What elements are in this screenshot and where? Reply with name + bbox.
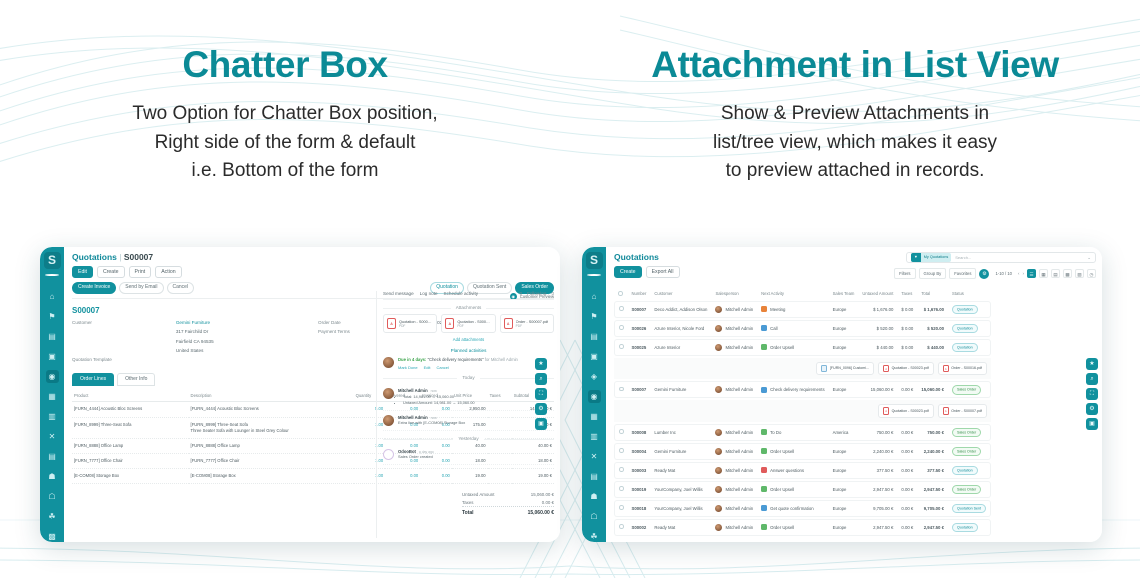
cell-number[interactable]: S00019 <box>628 481 651 498</box>
attachment-chip-list: [FURN_0096] Customi...AQuotation - S0002… <box>618 362 987 376</box>
app-sidebar-left[interactable]: S ⌂ ⚑ ▤ ▣ ◉ ▦ ▥ ✕ ▤ ☗ ☖ ☘ ▩ ✾ <box>40 247 64 542</box>
cell-total: $ 440.00 <box>917 339 948 356</box>
schedule-activity-button[interactable]: Schedule activity <box>444 291 478 296</box>
cell-number[interactable]: S00002 <box>628 519 651 536</box>
line-product: [FURN_8888] Office Lamp <box>72 438 189 453</box>
cell-taxes: $ 0.00 <box>897 301 917 318</box>
pdf-icon: A <box>445 318 454 329</box>
list-pane: Quotations Create Export All ▼ My Quotat… <box>606 247 1102 542</box>
activity-assignee: for Mitchell Admin <box>485 357 518 362</box>
settings-icon[interactable]: ⚙ <box>1086 403 1098 415</box>
avatar <box>715 386 722 393</box>
summary-untaxed: 36,775.50 <box>858 538 897 543</box>
screenshot-list-view: S ⌂ ⚑ ▤ ▣ ◈ ◉ ▦ ▥ ✕ ▤ ☗ ☖ ☘ ▩ ✾ Quotatio… <box>582 247 1102 542</box>
avatar <box>715 429 722 436</box>
following-button[interactable]: Following <box>527 291 546 296</box>
activity-label: Order Upsell <box>770 525 794 530</box>
message-author: Mitchell Admin <box>398 388 428 393</box>
status-badge: Sales Order <box>952 485 981 494</box>
edit-button[interactable]: Edit <box>72 266 93 278</box>
cell-total: 2,240.00 € <box>917 443 948 460</box>
table-row[interactable]: S00002Ready MatMitchell AdminOrder Upsel… <box>614 519 991 536</box>
select-all-checkbox[interactable] <box>618 291 623 296</box>
pdf-icon: A <box>883 365 889 373</box>
send-message-button[interactable]: Send message <box>383 291 414 296</box>
next-page-icon[interactable]: › <box>1023 271 1025 276</box>
attachment-name: Quotation - S00023.pdf <box>892 366 929 370</box>
group-by-button[interactable]: Group By <box>919 268 947 279</box>
line-product: [FURN_4444] Acoustic Bloc Screens <box>72 402 189 417</box>
quotations-list-body: S00007Deco Addict, Addison OlsonMitchell… <box>614 301 991 543</box>
followers-extra[interactable]: 0 <box>551 291 554 296</box>
attachment-list: A Quotation - S00023.pdf PDF A Quotation… <box>383 314 554 333</box>
table-row[interactable]: S00007Gemini FurnitureMitchell AdminChec… <box>614 381 991 398</box>
activity-type-icon <box>761 325 767 331</box>
cell-sales-team: America <box>829 424 859 441</box>
table-row[interactable]: S00018YourCompany, Joel WillisMitchell A… <box>614 500 991 517</box>
cell-status: Sales Order <box>948 481 991 498</box>
salesperson-name: Mitchell Admin <box>725 449 753 454</box>
activity-item: Due in 4 days: "Check delivery requireme… <box>383 357 554 370</box>
avatar <box>715 467 722 474</box>
breadcrumb-model[interactable]: Quotations <box>72 252 117 262</box>
table-row[interactable]: S00007Deco Addict, Addison OlsonMitchell… <box>614 301 991 318</box>
col-product[interactable]: Product <box>72 390 189 402</box>
home-icon[interactable]: ⌂ <box>46 290 59 303</box>
cell-number[interactable]: S00007 <box>628 301 651 318</box>
heading-subtitle-right: Show & Preview Attachments in list/tree … <box>570 100 1140 187</box>
contacts-icon[interactable]: ▣ <box>46 350 59 363</box>
cell-salesperson: Mitchell Admin <box>711 462 757 479</box>
app-sidebar-right[interactable]: S ⌂ ⚑ ▤ ▣ ◈ ◉ ▦ ▥ ✕ ▤ ☗ ☖ ☘ ▩ ✾ <box>582 247 606 542</box>
cell-status: Quotation <box>948 320 991 337</box>
cell-number[interactable]: S00007 <box>628 381 651 398</box>
cell-customer: Lumber Inc <box>650 424 711 441</box>
sales-icon[interactable]: ◉ <box>46 370 59 383</box>
cancel-activity-button[interactable]: Cancel <box>436 365 448 370</box>
attachment-chip[interactable]: [FURN_0096] Customi... <box>816 362 874 376</box>
search-facet[interactable]: ▼ My Quotations <box>911 253 951 262</box>
attachment-type: PDF <box>399 324 433 328</box>
field-address-1: 317 Fairchild Dr <box>72 329 308 336</box>
summary-row: 36,775.500.0036,775.50 <box>614 538 991 543</box>
row-checkbox[interactable] <box>619 325 624 330</box>
save-icon[interactable]: ▣ <box>1086 418 1098 430</box>
attachment-card[interactable]: A Order - S00007.pdf PDF <box>500 314 554 333</box>
cell-customer: Azure Interior, Nicole Ford <box>650 320 711 337</box>
message-body: Sales Order created <box>398 454 434 460</box>
cell-sales-team: Europe <box>829 500 859 517</box>
avatar[interactable] <box>587 274 601 276</box>
cell-next-activity[interactable]: Answer questions <box>757 462 828 479</box>
image-icon <box>821 365 827 373</box>
status-badge: Quotation <box>952 324 978 333</box>
cell-taxes: 0.00 € <box>897 443 917 460</box>
avatar <box>715 325 722 332</box>
summary-taxes: 0.00 <box>897 538 917 543</box>
fields-column-left: Customer Gemini Furniture 317 Fairchild … <box>72 320 308 366</box>
heading-subtitle-left-line-2: Right side of the form & default <box>0 129 570 158</box>
chevron-down-icon[interactable]: ⌄ <box>1087 255 1091 261</box>
cell-total: 377.50 € <box>917 462 948 479</box>
activity-type-icon <box>761 467 767 473</box>
table-row[interactable]: S00019YourCompany, Joel WillisMitchell A… <box>614 481 991 498</box>
calendar-view-icon[interactable]: ▤ <box>1051 269 1060 278</box>
create-button[interactable]: Create <box>97 266 125 278</box>
cell-next-activity[interactable]: Meeting <box>757 301 828 318</box>
cell-untaxed-amount: 2,947.50 € <box>858 481 897 498</box>
app-logo-icon[interactable]: S <box>586 252 603 269</box>
col-customer[interactable]: Customer <box>650 289 711 299</box>
cell-salesperson: Mitchell Admin <box>711 339 757 356</box>
col-untaxed-amount[interactable]: Untaxed Amount <box>858 289 897 299</box>
row-checkbox[interactable] <box>619 448 624 453</box>
avatar <box>715 306 722 313</box>
cell-untaxed-amount: 750.00 € <box>858 424 897 441</box>
table-row[interactable]: S00025Azure InteriorMitchell AdminOrder … <box>614 339 991 356</box>
expand-icon[interactable]: ⛶ <box>1086 388 1098 400</box>
col-salesperson[interactable]: Salesperson <box>711 289 757 299</box>
previous-page-icon[interactable]: ‹ <box>1018 271 1020 276</box>
cell-status: Quotation <box>948 339 991 356</box>
chatter-message: Mitchell Adminnow Total: 14,981.00 → 15,… <box>383 384 554 411</box>
heading-subtitle-right-line-1: Show & Preview Attachments in <box>570 100 1140 129</box>
floating-action-rail-left: ★ ⌕ ⛶ ⚙ ▣ <box>535 358 547 430</box>
cell-number[interactable]: S00026 <box>628 320 651 337</box>
row-checkbox[interactable] <box>619 387 624 392</box>
field-customer-value[interactable]: Gemini Furniture <box>176 320 210 327</box>
row-checkbox[interactable] <box>619 344 624 349</box>
cell-salesperson: Mitchell Admin <box>711 519 757 536</box>
pdf-icon: A <box>943 407 949 415</box>
attachment-chip[interactable]: AOrder - S00016.pdf <box>938 362 987 376</box>
cell-salesperson: Mitchell Admin <box>711 424 757 441</box>
activity-type-icon <box>761 486 767 492</box>
search-bar[interactable]: ▼ My Quotations Search... ⌄ <box>906 252 1096 263</box>
search-icon[interactable]: ⌕ <box>535 373 547 385</box>
cell-taxes: 0.00 € <box>897 500 917 517</box>
activity-label: Order Upsell <box>770 449 794 454</box>
inventory-icon[interactable]: ▥ <box>588 430 601 443</box>
sales-icon[interactable]: ◉ <box>588 390 601 403</box>
cell-untaxed-amount: 9,705.00 € <box>858 500 897 517</box>
employees-icon[interactable]: ☗ <box>46 470 59 483</box>
table-row[interactable]: S00003Ready MatMitchell AdminAnswer ques… <box>614 462 991 479</box>
graph-view-icon[interactable]: ▨ <box>1075 269 1084 278</box>
tab-other-info[interactable]: Other Info <box>117 373 155 386</box>
cell-salesperson: Mitchell Admin <box>711 381 757 398</box>
megaphone-icon[interactable]: ⚑ <box>588 310 601 323</box>
add-attachments-button[interactable]: Add attachments <box>383 337 554 342</box>
apps-icon[interactable]: ▩ <box>46 530 59 543</box>
tab-order-lines[interactable]: Order Lines <box>72 373 114 386</box>
heading-subtitle-left: Two Option for Chatter Box position, Rig… <box>0 100 570 187</box>
cell-status: Sales Order <box>948 424 991 441</box>
field-customer: Customer Gemini Furniture <box>72 320 308 327</box>
status-badge: Quotation <box>952 343 978 352</box>
row-checkbox[interactable] <box>619 486 624 491</box>
cell-customer: YourCompany, Joel Willis <box>650 481 711 498</box>
attachment-name: Quotation - S00023.pdf <box>892 409 929 413</box>
star-icon[interactable]: ★ <box>535 358 547 370</box>
attachment-name: Order - S00007.pdf <box>951 409 982 413</box>
cell-status: Sales Order <box>948 443 991 460</box>
cell-sales-team: Europe <box>829 339 859 356</box>
avatar <box>715 505 722 512</box>
attachment-card[interactable]: A Quotation - S00010.pdf PDF <box>441 314 495 333</box>
floating-action-rail-right: ★ ⌕ ⛶ ⚙ ▣ <box>1086 358 1098 430</box>
attendance-icon[interactable]: ☘ <box>46 510 59 523</box>
cell-status: Sales Order <box>948 381 991 398</box>
col-status[interactable]: Status <box>948 289 991 299</box>
message-time: now <box>431 389 437 393</box>
followers-count[interactable]: 0 <box>519 291 522 296</box>
favorites-button[interactable]: Favorites <box>949 268 976 279</box>
cell-sales-team: Europe <box>829 481 859 498</box>
breadcrumb-separator: | <box>119 252 121 262</box>
attachment-chip[interactable]: AOrder - S00007.pdf <box>938 404 987 418</box>
cell-total: 750.00 € <box>917 424 948 441</box>
status-badge: Quotation <box>952 305 978 314</box>
avatar <box>715 344 722 351</box>
pdf-icon: A <box>387 318 396 329</box>
pdf-icon: A <box>943 365 949 373</box>
mark-done-button[interactable]: Mark Done <box>398 365 418 370</box>
recruitment-icon[interactable]: ☖ <box>588 510 601 523</box>
col-description[interactable]: Description <box>189 390 354 402</box>
status-badge: Quotation Sent <box>952 504 986 513</box>
table-header-row: Number Customer Salesperson Next Activit… <box>614 289 991 299</box>
attachment-type: PDF <box>516 324 549 328</box>
attendance-icon[interactable]: ☘ <box>588 530 601 543</box>
cell-total: 2,947.50 € <box>917 481 948 498</box>
salesperson-name: Mitchell Admin <box>725 468 753 473</box>
cell-next-activity[interactable]: Call <box>757 320 828 337</box>
attachment-name: Order - S00016.pdf <box>951 366 982 370</box>
cell-untaxed-amount: $ 520.00 <box>858 320 897 337</box>
cell-taxes: 0.00 € <box>897 381 917 398</box>
quotations-list-table: Number Customer Salesperson Next Activit… <box>614 287 991 542</box>
field-quotation-template-label: Quotation Template <box>72 357 176 364</box>
cell-next-activity[interactable]: Get quote confirmation <box>757 500 828 517</box>
attachment-chip[interactable]: AQuotation - S00023.pdf <box>878 362 934 376</box>
planned-activities-title: Planned activities <box>383 348 554 353</box>
cell-total: 2,947.50 € <box>917 519 948 536</box>
cell-total: 9,705.00 € <box>917 500 948 517</box>
settings-icon[interactable]: ⚙ <box>535 403 547 415</box>
cell-customer: Deco Addict, Addison Olson <box>650 301 711 318</box>
avatar <box>715 486 722 493</box>
message-body: Extra line with [E-COM08] Storage Box <box>398 420 465 426</box>
screenshot-form-view: S ⌂ ⚑ ▤ ▣ ◉ ▦ ▥ ✕ ▤ ☗ ☖ ☘ ▩ ✾ Quotations… <box>40 247 560 542</box>
breadcrumb[interactable]: Quotations | S00007 <box>72 252 554 262</box>
activity-type-icon <box>761 306 767 312</box>
kanban-view-icon[interactable]: ▦ <box>1039 269 1048 278</box>
row-checkbox[interactable] <box>619 429 624 434</box>
cell-salesperson: Mitchell Admin <box>711 301 757 318</box>
day-separator-yesterday: Yesterday <box>383 436 554 441</box>
line-product: [FURN_7777] Office Chair <box>72 453 189 468</box>
col-number[interactable]: Number <box>628 289 651 299</box>
expand-icon[interactable]: ⛶ <box>535 388 547 400</box>
star-icon[interactable]: ★ <box>1086 358 1098 370</box>
row-checkbox[interactable] <box>619 306 624 311</box>
status-badge: Sales Order <box>952 385 981 394</box>
headings-row: Chatter Box Two Option for Chatter Box p… <box>0 0 1140 215</box>
breadcrumb-record: S00007 <box>124 252 153 262</box>
list-toolbar: Filters Group By Favorites ⚙ 1-10 / 10 ‹… <box>894 268 1096 279</box>
invoicing-icon[interactable]: ▦ <box>46 390 59 403</box>
calendar-icon[interactable]: ▤ <box>46 330 59 343</box>
cell-number[interactable]: S00008 <box>628 424 651 441</box>
line-description: [E-COM08] Storage Box <box>189 468 354 483</box>
line-description: [FURN_8888] Office Lamp <box>189 438 354 453</box>
cell-next-activity[interactable]: Check delivery requirements <box>757 381 828 398</box>
activity-label: Get quote confirmation <box>770 506 813 511</box>
activity-label: Order Upsell <box>770 487 794 492</box>
salesperson-name: Mitchell Admin <box>725 487 753 492</box>
list-view-icon[interactable]: ☰ <box>1027 269 1036 278</box>
purchase-icon[interactable]: ▤ <box>588 470 601 483</box>
pivot-view-icon[interactable]: ▩ <box>1063 269 1072 278</box>
edit-activity-button[interactable]: Edit <box>424 365 431 370</box>
employees-icon[interactable]: ☗ <box>588 490 601 503</box>
pdf-icon: A <box>883 407 889 415</box>
app-logo-icon[interactable]: S <box>44 252 61 269</box>
attachment-name: Order - S00007.pdf <box>516 320 549 324</box>
cell-customer: Gemini Furniture <box>650 443 711 460</box>
cell-taxes: $ 0.00 <box>897 320 917 337</box>
cell-taxes: 0.00 € <box>897 462 917 479</box>
manufacturing-icon[interactable]: ✕ <box>588 450 601 463</box>
field-address-line-3: United States <box>176 348 204 355</box>
day-separator-today: Today <box>383 375 554 380</box>
avatar <box>383 357 394 368</box>
activity-label: Call <box>770 326 777 331</box>
cell-number[interactable]: S00004 <box>628 443 651 460</box>
activity-type-icon <box>761 505 767 511</box>
cell-number[interactable]: S00003 <box>628 462 651 479</box>
cell-salesperson: Mitchell Admin <box>711 443 757 460</box>
create-button[interactable]: Create <box>614 266 642 278</box>
cell-customer: Ready Mat <box>650 519 711 536</box>
cell-status: Quotation <box>948 519 991 536</box>
attachment-row: [FURN_0096] Customi...AQuotation - S0002… <box>614 358 991 380</box>
manufacturing-icon[interactable]: ✕ <box>46 430 59 443</box>
field-address-2: Fairfield CA 94535 <box>72 339 308 346</box>
search-facet-label: My Quotations <box>921 253 951 262</box>
cell-next-activity[interactable]: To Do <box>757 424 828 441</box>
line-product: [E-COM08] Storage Box <box>72 468 189 483</box>
invoicing-icon[interactable]: ▦ <box>588 410 601 423</box>
cell-salesperson: Mitchell Admin <box>711 481 757 498</box>
filters-button[interactable]: Filters <box>894 268 915 279</box>
salesperson-name: Mitchell Admin <box>725 430 753 435</box>
row-checkbox[interactable] <box>619 505 624 510</box>
form-action-buttons: Edit Create Print Action <box>72 266 554 278</box>
settings-gear-icon[interactable]: ⚙ <box>979 269 989 279</box>
table-row[interactable]: S00026Azure Interior, Nicole FordMitchel… <box>614 320 991 337</box>
log-note-button[interactable]: Log note <box>420 291 438 296</box>
cell-next-activity[interactable]: Order Upsell <box>757 339 828 356</box>
activity-label: Order Upsell <box>770 345 794 350</box>
col-sales-team[interactable]: Sales Team <box>829 289 859 299</box>
table-row[interactable]: S00004Gemini FurnitureMitchell AdminOrde… <box>614 443 991 460</box>
status-badge: Sales Order <box>952 447 981 456</box>
row-checkbox[interactable] <box>619 467 624 472</box>
cell-total: $ 1,676.00 <box>917 301 948 318</box>
col-next-activity[interactable]: Next Activity <box>757 289 828 299</box>
cell-taxes: $ 0.00 <box>897 339 917 356</box>
summary-total: 36,775.50 <box>917 538 948 543</box>
salesperson-name: Mitchell Admin <box>725 525 753 530</box>
breadcrumb-model[interactable]: Quotations <box>614 252 659 262</box>
calendar-icon[interactable]: ▤ <box>588 330 601 343</box>
avatar <box>383 415 394 426</box>
salesperson-name: Mitchell Admin <box>725 345 753 350</box>
megaphone-icon[interactable]: ⚑ <box>46 310 59 323</box>
col-total[interactable]: Total <box>917 289 948 299</box>
home-icon[interactable]: ⌂ <box>588 290 601 303</box>
line-description: [FURN_8999] Three-Seat SofaThree Seater … <box>189 417 354 438</box>
activity-due: Due in 4 days: <box>398 357 426 362</box>
cell-next-activity[interactable]: Order Upsell <box>757 481 828 498</box>
attachment-name: Quotation - S00010.pdf <box>457 320 491 324</box>
attachment-chip[interactable]: AQuotation - S00023.pdf <box>878 404 934 418</box>
heading-block-chatter-box: Chatter Box Two Option for Chatter Box p… <box>0 0 570 215</box>
export-all-button[interactable]: Export All <box>646 266 680 278</box>
row-checkbox[interactable] <box>619 524 624 529</box>
cell-sales-team: Europe <box>829 381 859 398</box>
purchase-icon[interactable]: ▤ <box>46 450 59 463</box>
status-badge: Sales Order <box>952 428 981 437</box>
print-button[interactable]: Print <box>129 266 152 278</box>
heading-block-attachment-list-view: Attachment in List View Show & Preview A… <box>570 0 1140 215</box>
avatar[interactable] <box>45 274 59 276</box>
crm-icon[interactable]: ◈ <box>588 370 601 383</box>
chatter-message: Mitchell Adminnow Extra line with [E-COM… <box>383 411 554 431</box>
activity-label: Meeting <box>770 307 785 312</box>
activity-view-icon[interactable]: ◷ <box>1087 269 1096 278</box>
cell-salesperson: Mitchell Admin <box>711 500 757 517</box>
attachments-section-title: Attachments <box>383 305 554 310</box>
cell-untaxed-amount: 2,947.50 € <box>858 519 897 536</box>
cell-next-activity[interactable]: Order Upsell <box>757 443 828 460</box>
table-row[interactable]: S00008Lumber IncMitchell AdminTo DoAmeri… <box>614 424 991 441</box>
recruitment-icon[interactable]: ☖ <box>46 490 59 503</box>
cell-number[interactable]: S00025 <box>628 339 651 356</box>
cell-status: Quotation <box>948 301 991 318</box>
search-icon[interactable]: ⌕ <box>1086 373 1098 385</box>
avatar <box>715 524 722 531</box>
inventory-icon[interactable]: ▥ <box>46 410 59 423</box>
search-input[interactable]: Search... <box>955 255 971 260</box>
attachment-card[interactable]: A Quotation - S00023.pdf PDF <box>383 314 437 333</box>
activity-type-icon <box>761 429 767 435</box>
col-taxes[interactable]: Taxes <box>897 289 917 299</box>
action-button[interactable]: Action <box>155 266 181 278</box>
cell-next-activity[interactable]: Order Upsell <box>757 519 828 536</box>
save-icon[interactable]: ▣ <box>535 418 547 430</box>
heading-title-left: Chatter Box <box>0 45 570 86</box>
cell-number[interactable]: S00018 <box>628 500 651 517</box>
attachment-type: PDF <box>457 324 491 328</box>
heading-title-right: Attachment in List View <box>570 45 1140 86</box>
pager-label[interactable]: 1-10 / 10 <box>992 271 1015 276</box>
contacts-icon[interactable]: ▣ <box>588 350 601 363</box>
filter-icon: ▼ <box>911 253 921 262</box>
heading-subtitle-left-line-1: Two Option for Chatter Box position, <box>0 100 570 129</box>
